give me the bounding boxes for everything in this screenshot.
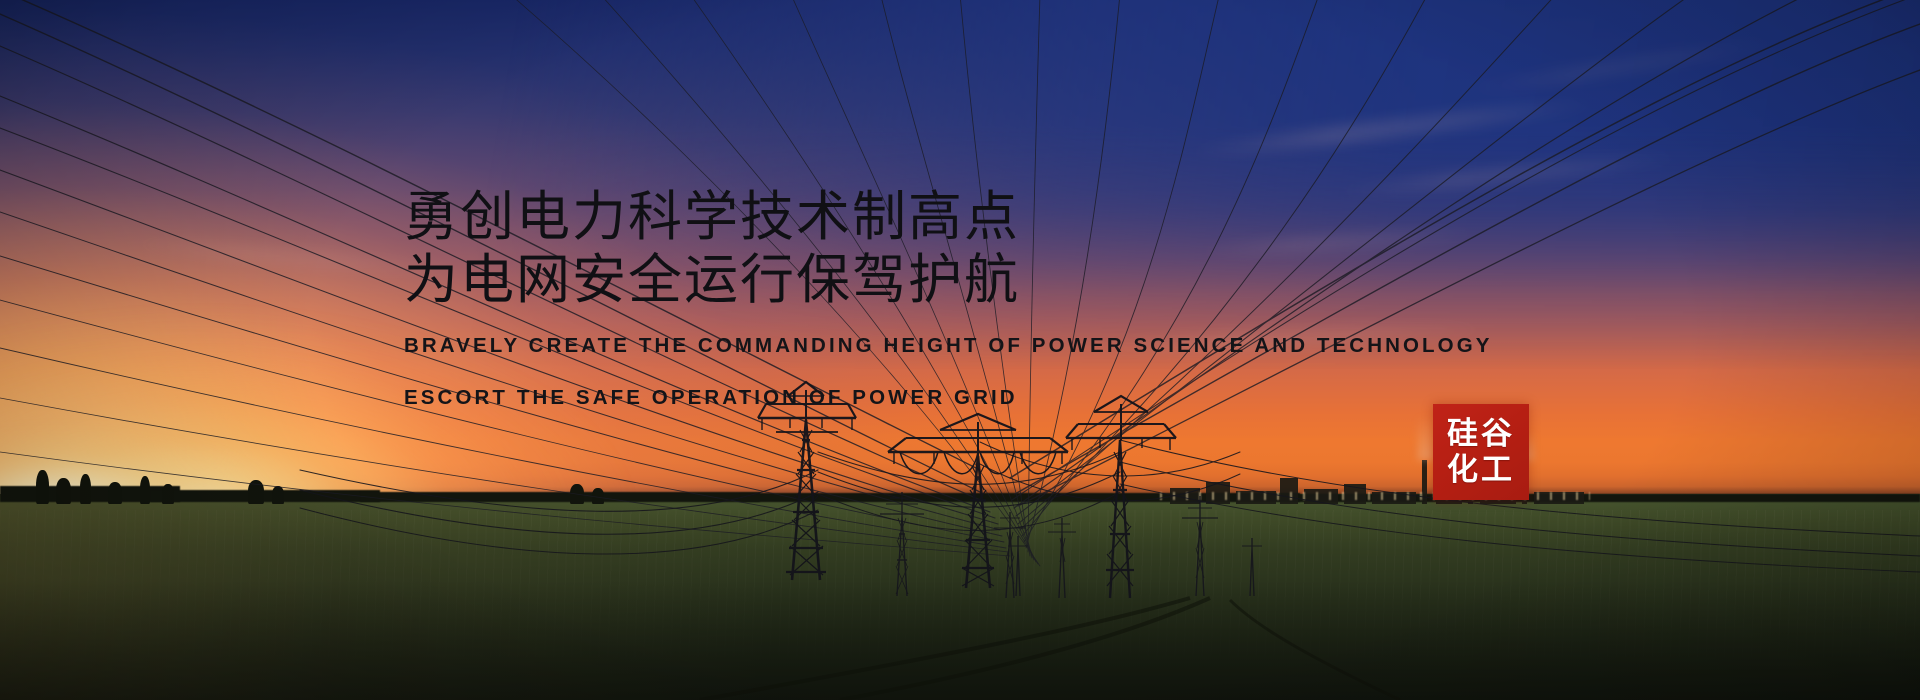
tree-silhouette bbox=[36, 470, 49, 504]
headline-line-2: 为电网安全运行保驾护航 bbox=[404, 249, 1494, 312]
ground-shadow-bottom bbox=[0, 580, 1920, 700]
tree-silhouette bbox=[248, 480, 264, 504]
subtitle-line-1: BRAVELY CREATE THE COMMANDING HEIGHT OF … bbox=[404, 328, 1494, 364]
tree-silhouette bbox=[272, 486, 284, 504]
treeline-silhouette bbox=[150, 490, 380, 502]
tree-silhouette bbox=[162, 484, 174, 504]
company-logo-seal[interactable]: 硅谷 化工 bbox=[1433, 404, 1529, 500]
logo-text-line-2: 化工 bbox=[1447, 452, 1515, 488]
treeline-silhouette bbox=[360, 492, 760, 502]
logo-text: 硅谷 化工 bbox=[1433, 404, 1529, 500]
tree-silhouette bbox=[140, 476, 150, 504]
subtitle-line-2: ESCORT THE SAFE OPERATION OF POWER GRID bbox=[404, 380, 1494, 416]
tree-silhouette bbox=[108, 482, 122, 504]
hero-banner: 勇创电力科学技术制高点 为电网安全运行保驾护航 BRAVELY CREATE T… bbox=[0, 0, 1920, 700]
banner-copy: 勇创电力科学技术制高点 为电网安全运行保驾护航 BRAVELY CREATE T… bbox=[404, 186, 1494, 416]
tree-silhouette bbox=[80, 474, 91, 504]
headline-line-1: 勇创电力科学技术制高点 bbox=[404, 186, 1494, 249]
logo-text-line-1: 硅谷 bbox=[1447, 416, 1515, 452]
tree-silhouette bbox=[56, 478, 71, 504]
tree-silhouette bbox=[592, 488, 604, 504]
tree-silhouette bbox=[570, 484, 584, 504]
